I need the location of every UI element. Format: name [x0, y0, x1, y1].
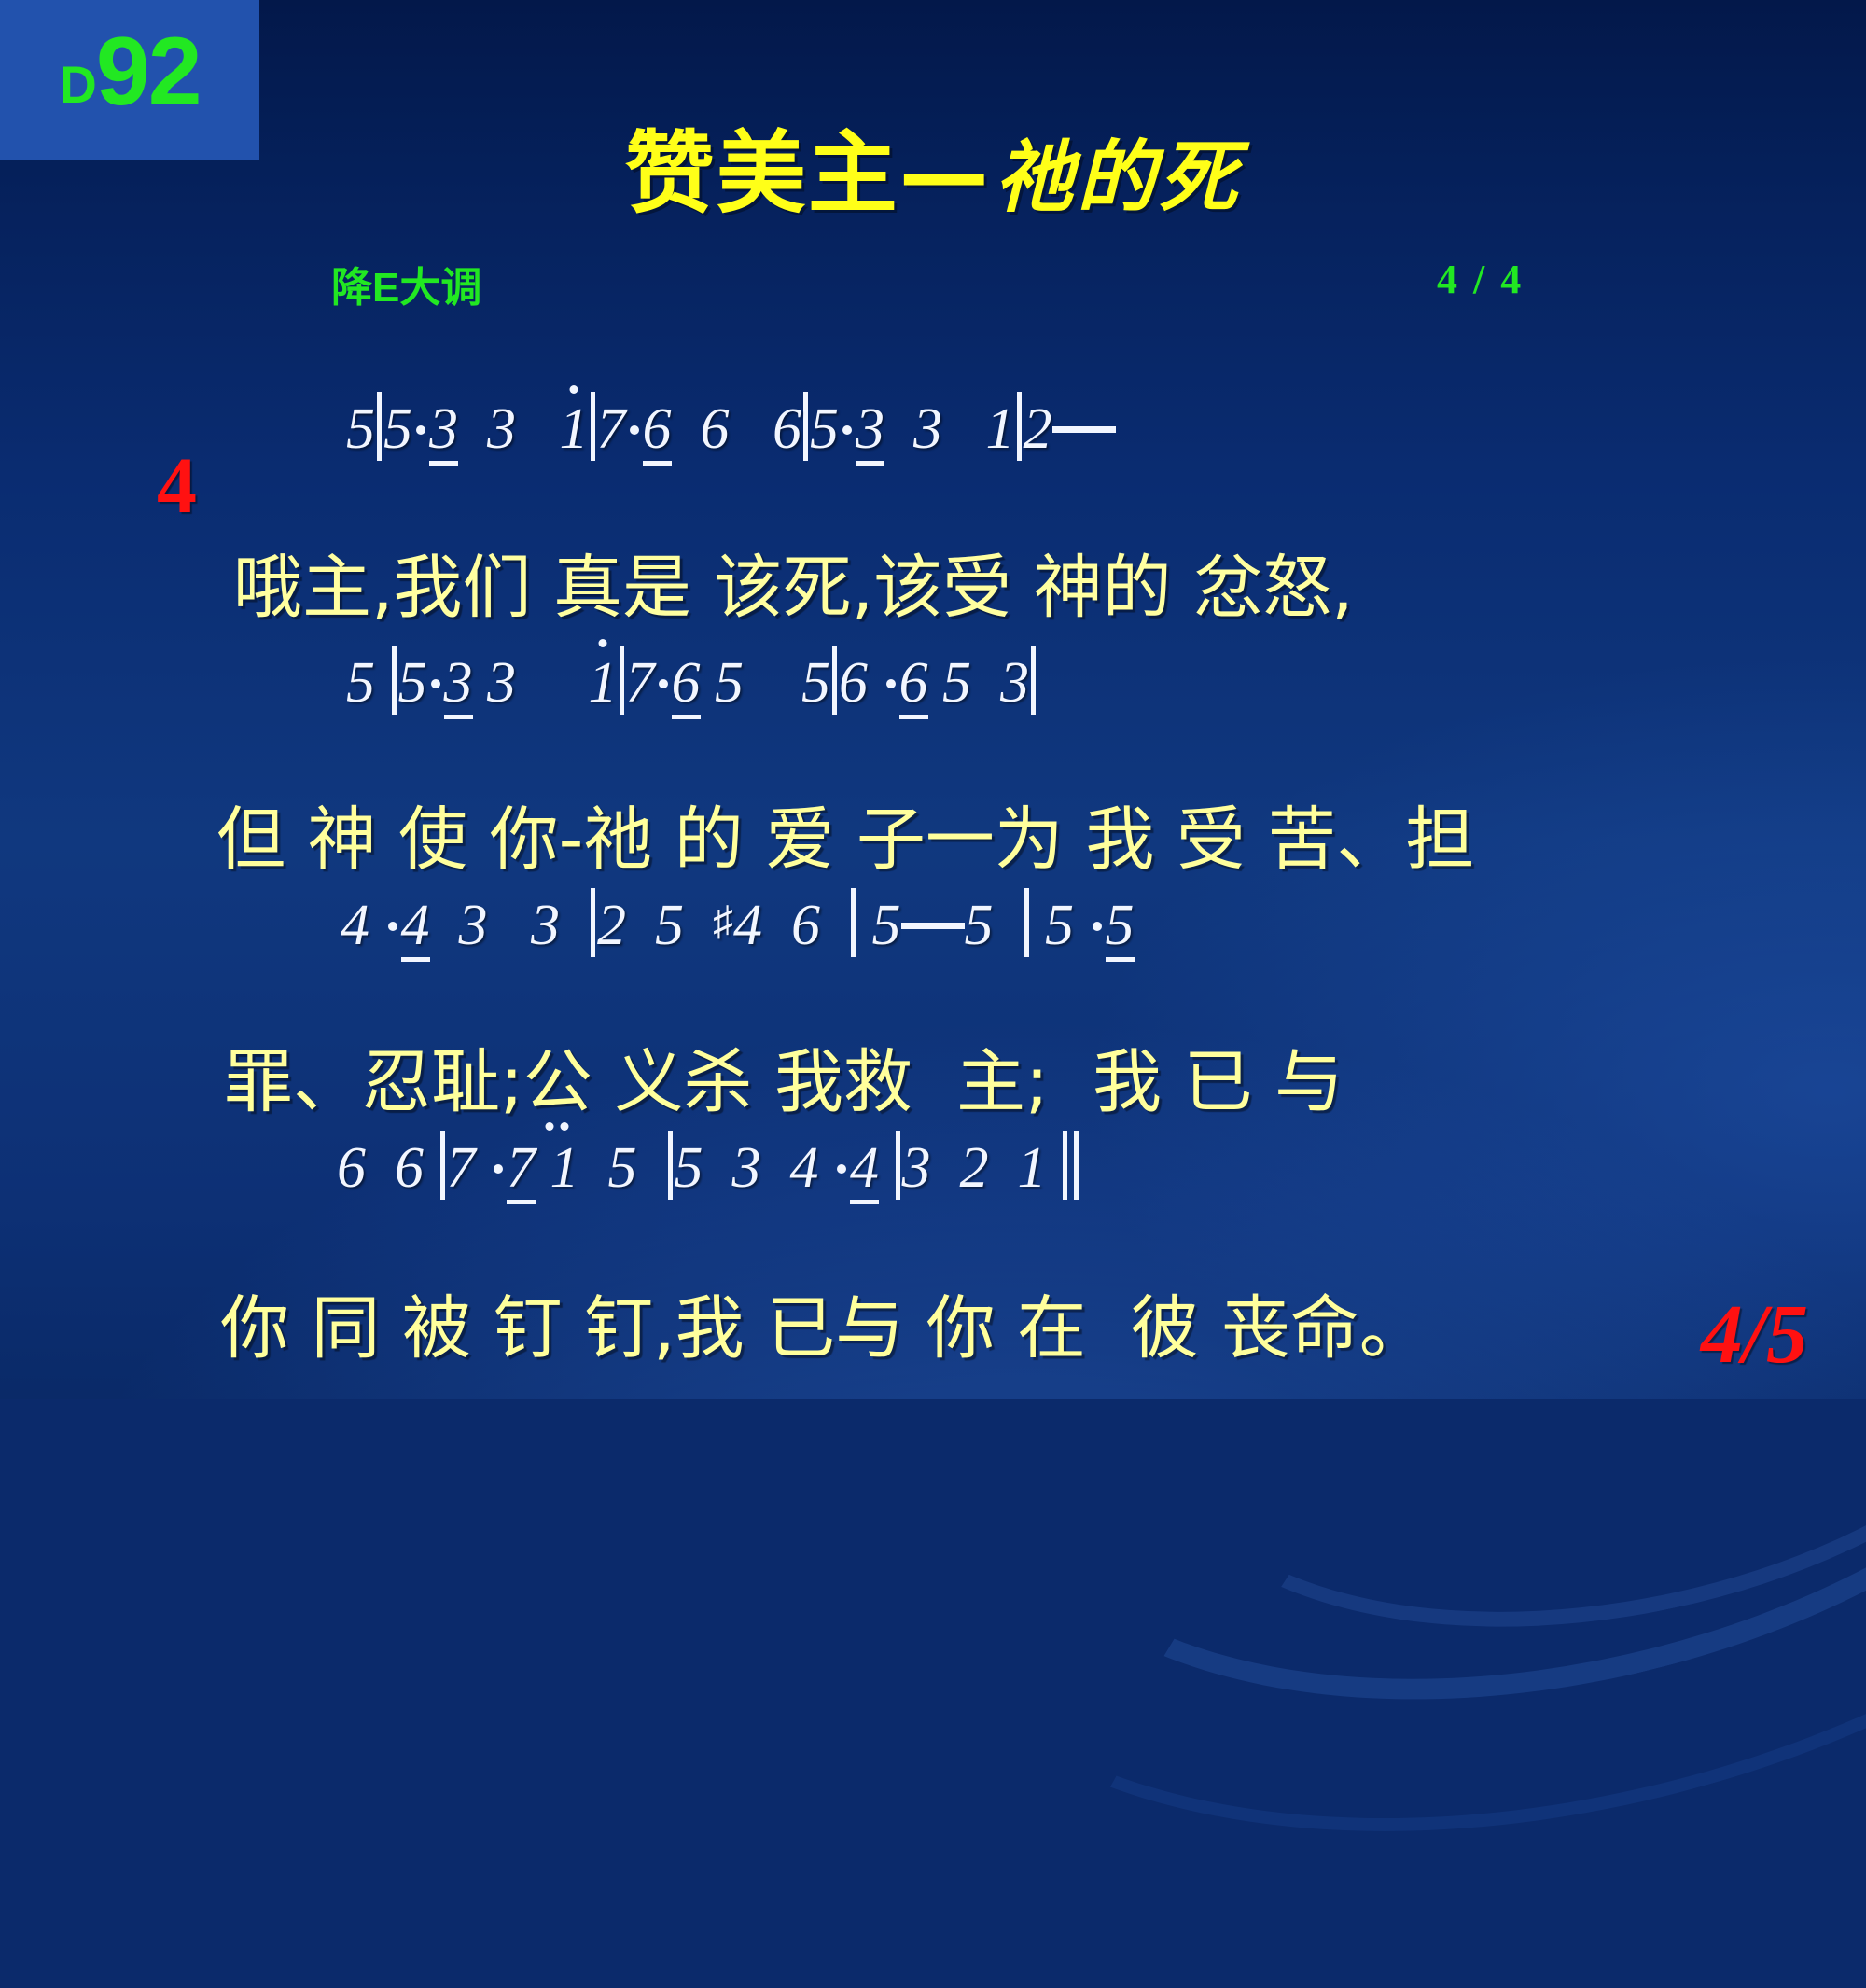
page-title: 赞美主— 祂的死: [0, 101, 1866, 230]
music-system-4: 6 6 7 7 1 5 5 3 4 4 3 2 1 你 同 被 钉 钉,我 已与…: [0, 1073, 1866, 1363]
notation-line-4: 6 6 7 7 1 5 5 3 4 4 3 2 1: [0, 1073, 1866, 1262]
page-indicator: 4/5: [1701, 1286, 1808, 1383]
lyrics-line-4: 你 同 被 钉 钉,我 已与 你 在 彼 丧命。: [0, 1294, 1866, 1363]
notation-line-2: 5 53 3 176 5 56 6 5 3: [0, 588, 1866, 777]
notation-line-1: 553 3 176 6 653 3 12: [0, 334, 1866, 523]
notation-line-3: 4 4 3 3 2 5 ♯4 6 55 5 5: [0, 830, 1866, 1020]
time-signature: 4 / 4: [1437, 256, 1524, 303]
key-prefix: 降: [331, 264, 372, 312]
title-main: 赞美主—: [625, 121, 991, 226]
key-letter: E: [372, 265, 399, 311]
music-meta-row: 降E大调 4 / 4: [0, 254, 1866, 304]
music-system-1: 553 3 176 6 653 3 12 哦主,我们 真是 该死,该受 神的 忿…: [0, 334, 1866, 622]
title-subtitle: 祂的死: [995, 131, 1241, 223]
key-suffix: 大调: [399, 264, 481, 312]
hymn-book-letter: D: [59, 64, 95, 106]
key-signature: 降E大调: [331, 254, 481, 313]
slide-canvas: D 92 赞美主— 祂的死 降E大调 4 / 4 4 553 3 176 6 6…: [0, 0, 1866, 1399]
